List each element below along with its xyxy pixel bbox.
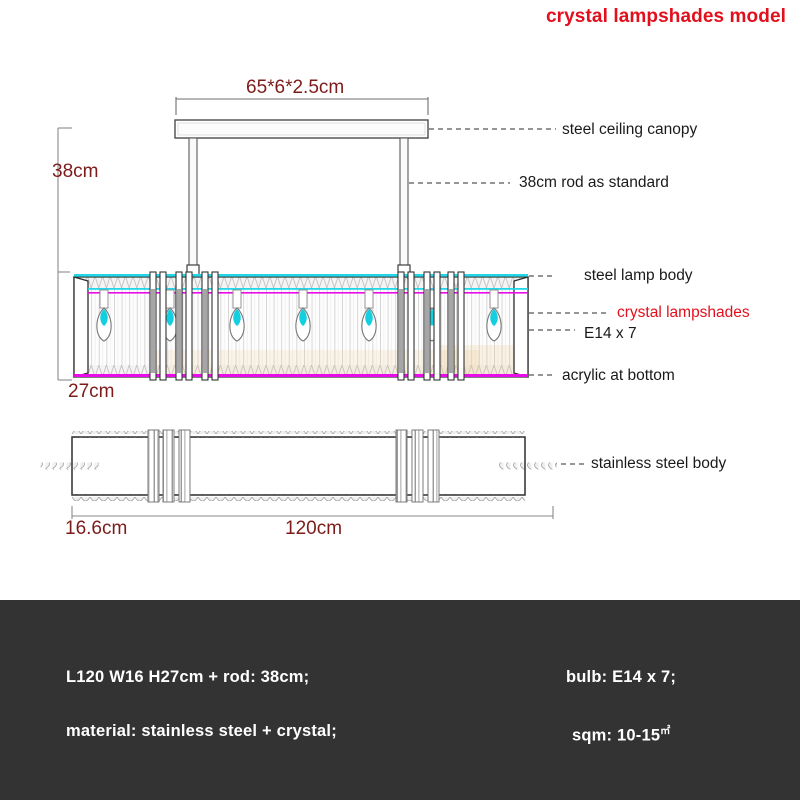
callout-acrylic-bottom: acrylic at bottom: [562, 368, 675, 384]
plan-view-body: [41, 430, 557, 502]
suspension-rod-left: [187, 138, 199, 278]
spec-sqm-unit: ㎡: [660, 726, 670, 737]
canopy-dimension-label: 65*6*2.5cm: [246, 78, 344, 97]
lamp-technical-drawing: [0, 0, 800, 600]
spec-material: material: stainless steel + crystal;: [66, 722, 337, 741]
callout-bulb-type: E14 x 7: [584, 326, 637, 342]
plan-length-label: 120cm: [285, 519, 342, 538]
rod-height-label: 38cm: [52, 162, 98, 181]
suspension-rod-right: [398, 138, 410, 278]
specification-panel: L120 W16 H27cm + rod: 38cm; bulb: E14 x …: [0, 600, 800, 800]
spec-sqm: sqm: 10-15㎡: [572, 722, 670, 746]
steel-ceiling-canopy-shape: [175, 120, 428, 138]
callout-rod-standard: 38cm rod as standard: [519, 175, 669, 191]
callout-stainless-steel-body: stainless steel body: [591, 456, 726, 472]
canopy-dimension-bracket: [176, 97, 428, 115]
callout-crystal-lampshades: crystal lampshades: [617, 305, 750, 321]
product-spec-diagram-page: crystal lampshades model: [0, 0, 800, 800]
spec-dimensions: L120 W16 H27cm + rod: 38cm;: [66, 668, 309, 687]
body-height-label: 27cm: [68, 382, 114, 401]
spec-row-1: L120 W16 H27cm + rod: 38cm; bulb: E14 x …: [0, 668, 800, 692]
plan-end-width-label: 16.6cm: [65, 519, 127, 538]
callout-steel-lamp-body: steel lamp body: [584, 268, 693, 284]
callout-steel-ceiling-canopy: steel ceiling canopy: [562, 122, 697, 138]
spec-bulb: bulb: E14 x 7;: [566, 668, 676, 687]
spec-row-2: material: stainless steel + crystal; sqm…: [0, 722, 800, 746]
spec-sqm-value: sqm: 10-15: [572, 727, 660, 745]
